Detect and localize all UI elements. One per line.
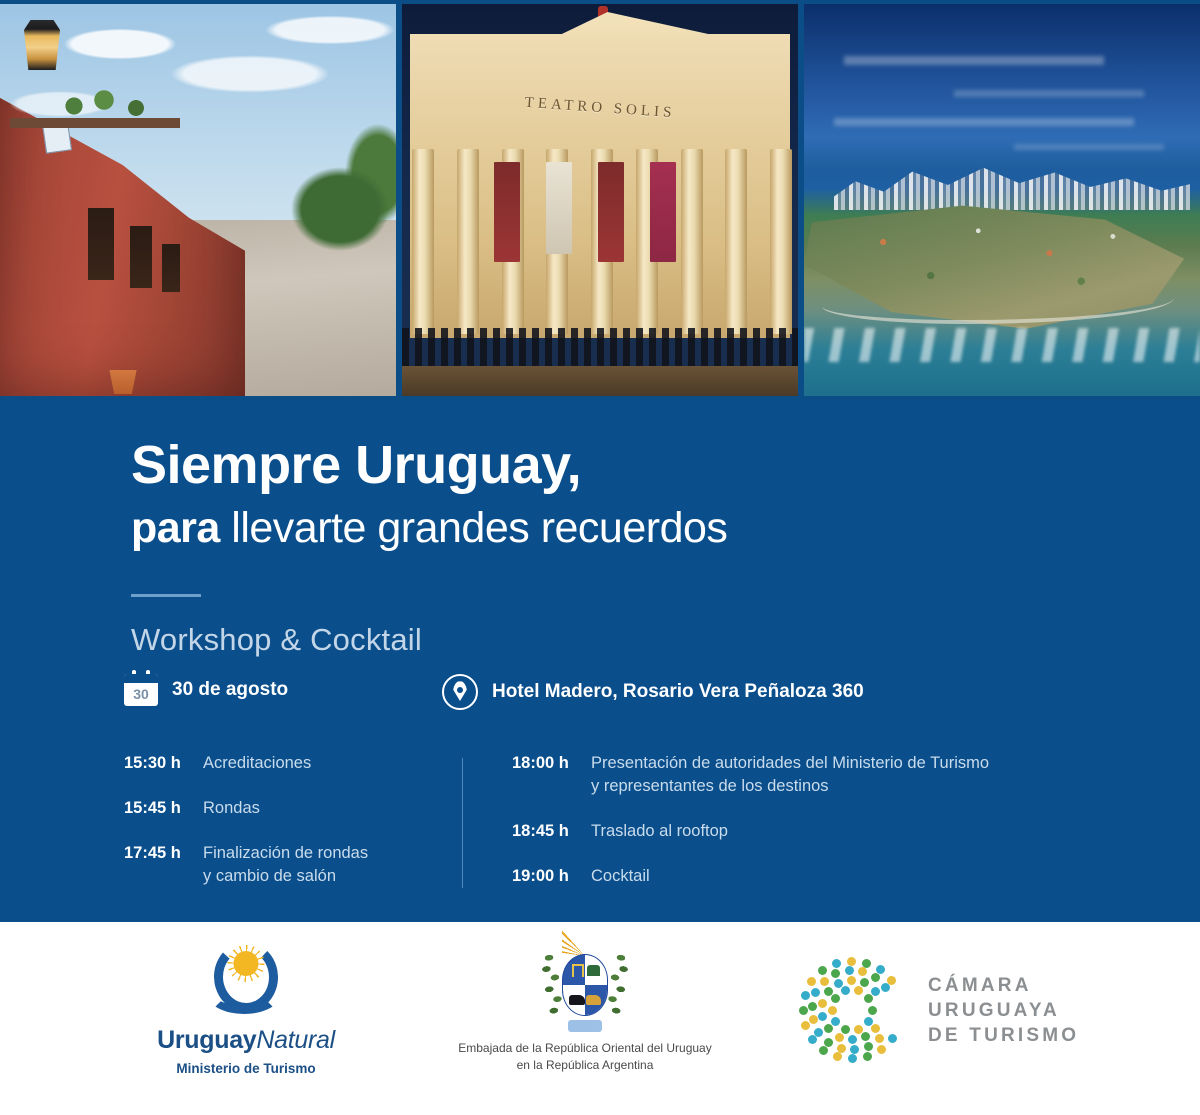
schedule-description-line-2: y cambio de salón <box>203 865 368 888</box>
calendar-day-number: 30 <box>124 683 158 706</box>
event-subtitle: Workshop & Cocktail <box>131 622 422 658</box>
schedule-description-line-1: Finalización de rondas <box>203 844 368 862</box>
camara-line-3: DE TURISMO <box>928 1023 1079 1048</box>
ocean-surf <box>804 328 1200 362</box>
photo-punta-del-este-aerial <box>804 4 1200 396</box>
uruguay-natural-word-italic: Natural <box>256 1026 335 1054</box>
event-venue: Hotel Madero, Rosario Vera Peñaloza 360 <box>442 674 864 710</box>
schedule-time: 18:45 h <box>512 820 578 843</box>
ribbon-icon <box>568 1020 602 1032</box>
camara-line-2: URUGUAYA <box>928 998 1079 1023</box>
embassy-caption: Embajada de la República Oriental del Ur… <box>420 1040 750 1074</box>
sun-icon <box>234 951 259 976</box>
schedule-description: Presentación de autoridades del Minister… <box>591 752 989 798</box>
theatre-plaza <box>402 366 798 396</box>
event-date-label: 30 de agosto <box>172 679 288 701</box>
schedule-item: 18:00 h Presentación de autoridades del … <box>512 752 1132 798</box>
street-lamp-icon <box>24 20 60 70</box>
schedule-item: 17:45 h Finalización de rondas y cambio … <box>124 842 454 888</box>
theatre-banners <box>494 162 744 277</box>
schedule-time: 15:30 h <box>124 752 190 775</box>
calendar-icon: 30 <box>124 674 158 706</box>
schedule-item: 19:00 h Cocktail <box>512 865 1132 888</box>
punta-skyline <box>834 162 1190 210</box>
schedule-item: 18:45 h Traslado al rooftop <box>512 820 1132 843</box>
schedule-description: Traslado al rooftop <box>591 820 728 843</box>
schedule-time: 18:00 h <box>512 752 578 775</box>
shield-icon <box>562 954 608 1016</box>
street-name-tile <box>42 120 72 153</box>
headline-line-2-rest: llevarte grandes recuerdos <box>220 504 728 552</box>
camara-wordmark: CÁMARA URUGUAYA DE TURISMO <box>928 973 1079 1048</box>
schedule-column-divider <box>462 758 463 888</box>
photo-colonia-del-sacramento-street <box>0 4 396 396</box>
schedule-description-line-1: Presentación de autoridades del Minister… <box>591 754 989 772</box>
scales-icon <box>572 964 584 977</box>
event-meta: 30 30 de agosto Hotel Madero, Rosario Ve… <box>124 674 1124 718</box>
camara-line-1: CÁMARA <box>928 973 1079 998</box>
title-divider <box>131 594 201 597</box>
uruguay-natural-logo-icon <box>200 942 292 1016</box>
aerial-clouds <box>804 14 1200 164</box>
camara-dots-icon <box>800 958 904 1062</box>
schedule-description-line-1: Cocktail <box>591 867 650 885</box>
content-panel: Siempre Uruguay, para llevarte grandes r… <box>0 400 1200 922</box>
logo-camara-uruguaya-turismo: CÁMARA URUGUAYA DE TURISMO <box>800 958 1140 1062</box>
headline-line-2: para llevarte grandes recuerdos <box>131 500 727 556</box>
photo-teatro-solis: TEATRO SOLIS <box>402 4 798 396</box>
schedule-time: 19:00 h <box>512 865 578 888</box>
horse-icon <box>569 995 585 1005</box>
location-pin-icon <box>442 674 478 710</box>
uruguay-natural-wordmark: UruguayNatural <box>96 1026 396 1054</box>
embassy-caption-line-1: Embajada de la República Oriental del Ur… <box>420 1040 750 1057</box>
uruguay-natural-subtitle: Ministerio de Turismo <box>96 1061 396 1076</box>
roof-greenery <box>56 86 166 128</box>
coastal-road <box>822 280 1174 324</box>
event-poster: TEATRO SOLIS Siempre Uruguay, para lleva… <box>0 0 1200 1115</box>
uruguay-natural-word-bold: Uruguay <box>157 1026 256 1054</box>
page-title: Siempre Uruguay, para llevarte grandes r… <box>131 434 727 556</box>
logo-embassy: Embajada de la República Oriental del Ur… <box>420 930 750 1074</box>
schedule-description: Acreditaciones <box>203 752 311 775</box>
sponsor-footer: UruguayNatural Ministerio de Turismo <box>0 922 1200 1115</box>
schedule-description: Cocktail <box>591 865 650 888</box>
schedule-description: Finalización de rondas y cambio de salón <box>203 842 368 888</box>
headline-emphasis: para <box>131 504 220 552</box>
flower-pot <box>106 370 140 394</box>
schedule-description-line-2: y representantes de los destinos <box>591 775 989 798</box>
event-venue-label: Hotel Madero, Rosario Vera Peñaloza 360 <box>492 681 864 703</box>
schedule-column-right: 18:00 h Presentación de autoridades del … <box>512 752 1132 910</box>
headline-line-1: Siempre Uruguay, <box>131 434 727 496</box>
ox-icon <box>586 995 601 1005</box>
schedule-description-line-1: Acreditaciones <box>203 754 311 772</box>
embassy-caption-line-2: en la República Argentina <box>420 1057 750 1074</box>
photo-band: TEATRO SOLIS <box>0 0 1200 400</box>
logo-uruguay-natural: UruguayNatural Ministerio de Turismo <box>96 942 396 1076</box>
schedule-description: Rondas <box>203 797 260 820</box>
schedule-description-line-1: Rondas <box>203 799 260 817</box>
schedule-column-left: 15:30 h Acreditaciones 15:45 h Rondas 17… <box>124 752 454 910</box>
schedule-item: 15:30 h Acreditaciones <box>124 752 454 775</box>
schedule-description-line-1: Traslado al rooftop <box>591 822 728 840</box>
schedule-item: 15:45 h Rondas <box>124 797 454 820</box>
event-date: 30 30 de agosto <box>124 674 288 706</box>
sun-of-may-icon <box>562 930 608 956</box>
schedule-time: 15:45 h <box>124 797 190 820</box>
schedule-time: 17:45 h <box>124 842 190 865</box>
uruguay-coat-of-arms-icon <box>537 930 633 1034</box>
fortress-icon <box>587 965 600 976</box>
